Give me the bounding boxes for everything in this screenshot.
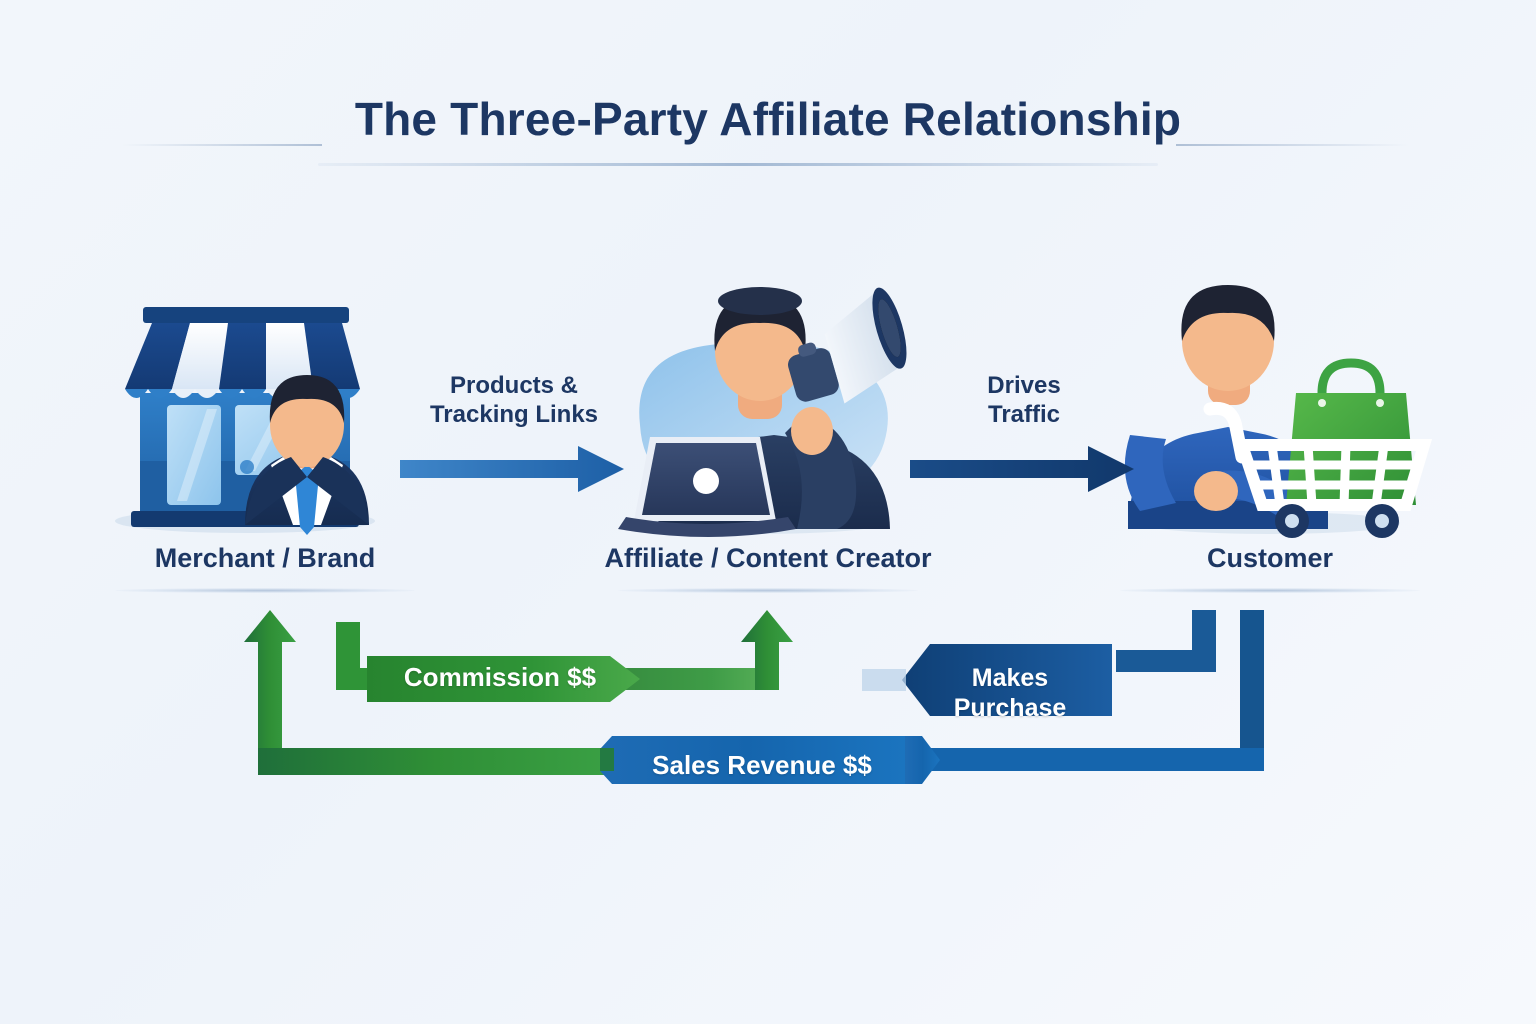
- flow-label-commission: Commission $$: [380, 662, 620, 693]
- node-rule-affiliate: [618, 588, 918, 593]
- flow-label-products-tracking-links: Products & Tracking Links: [398, 372, 630, 430]
- title-container: The Three-Party Affiliate Relationship: [0, 92, 1536, 146]
- flow-products-tracking-links[interactable]: Products & Tracking Links: [398, 372, 630, 482]
- node-label-affiliate: Affiliate / Content Creator: [598, 543, 938, 574]
- node-rule-merchant: [115, 588, 415, 593]
- creator-laptop-megaphone-icon: [598, 285, 938, 535]
- flow-label-drives-traffic: Drives Traffic: [908, 372, 1140, 430]
- title-underline: [318, 163, 1158, 166]
- page-title: The Three-Party Affiliate Relationship: [333, 92, 1203, 146]
- bottom-flow-graph: [0, 600, 1536, 860]
- node-rule-customer: [1120, 588, 1420, 593]
- node-merchant[interactable]: Merchant / Brand: [95, 285, 435, 593]
- node-customer[interactable]: Customer: [1100, 285, 1440, 593]
- flow-drives-traffic[interactable]: Drives Traffic: [908, 372, 1140, 482]
- storefront-merchant-icon: [95, 285, 435, 535]
- diagram-canvas: The Three-Party Affiliate Relationship: [0, 0, 1536, 1024]
- node-label-customer: Customer: [1100, 543, 1440, 574]
- flow-label-sales-revenue: Sales Revenue $$: [612, 750, 912, 781]
- node-label-merchant: Merchant / Brand: [95, 543, 435, 574]
- customer-shopping-cart-icon: [1100, 285, 1440, 535]
- flow-label-makes-purchase: Makes Purchase: [930, 664, 1090, 723]
- node-affiliate[interactable]: Affiliate / Content Creator: [598, 285, 938, 593]
